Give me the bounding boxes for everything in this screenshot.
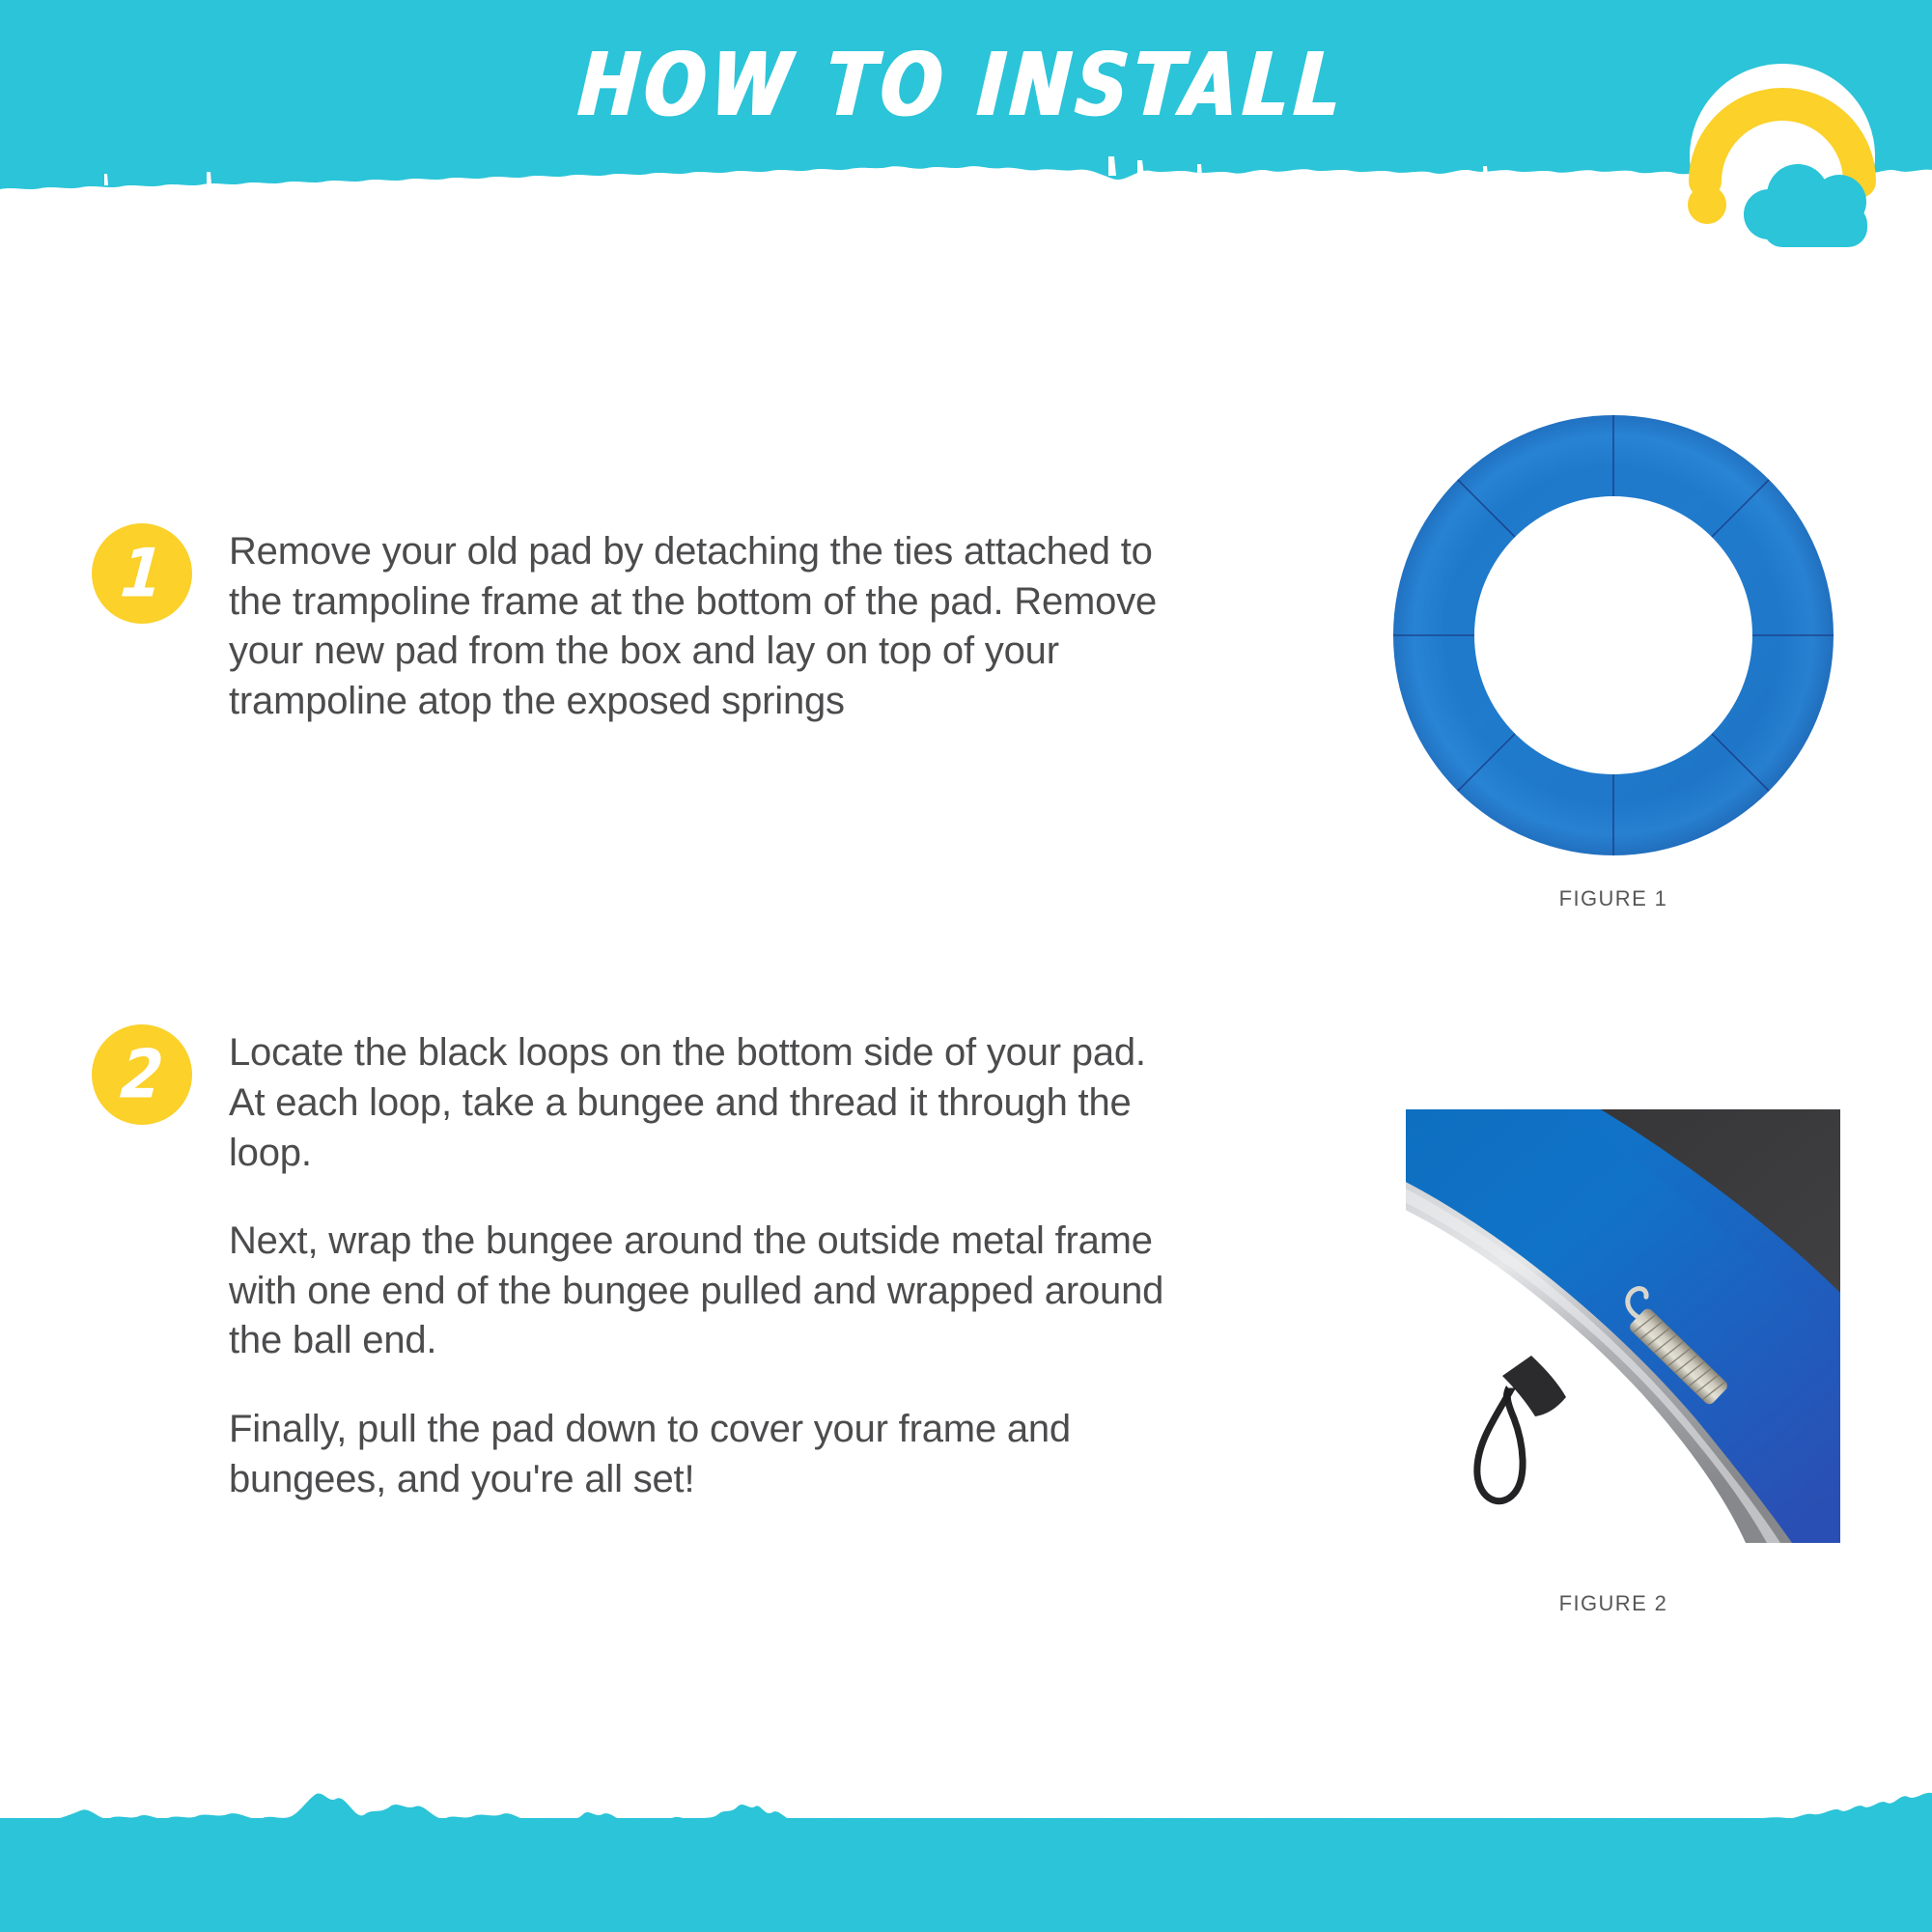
rainbow-cloud-logo [1663,60,1902,253]
step-item-2: 2 Locate the black loops on the bottom s… [92,1022,1173,1504]
step-number-1: 1 [87,518,197,630]
footer-fill [0,1818,1932,1932]
page-title: HOW TO INSTALL [0,35,1932,136]
step-number-2: 2 [87,1019,197,1131]
figure-1-caption: FIGURE 1 [1382,886,1845,911]
header-torn-edge [0,145,1932,222]
steps-list: 1 Remove your old pad by detaching the t… [92,521,1173,1504]
logo-dot-icon [1688,185,1726,224]
step-body-2: Locate the black loops on the bottom sid… [229,1022,1173,1504]
footer-torn-edge [0,1785,1932,1826]
step-paragraph: Next, wrap the bungee around the outside… [229,1217,1173,1366]
figure-2-caption: FIGURE 2 [1382,1591,1845,1616]
step-paragraph: Finally, pull the pad down to cover your… [229,1405,1173,1504]
figure-1-illustration-trampoline-pad-ring [1382,404,1845,867]
figure-2-illustration [1406,1109,1840,1543]
step-paragraph: Locate the black loops on the bottom sid… [229,1028,1173,1178]
step-number-badge-2: 2 [92,1024,192,1125]
header-band: HOW TO INSTALL [0,0,1932,189]
footer-band [0,1792,1932,1932]
step-body-1: Remove your old pad by detaching the tie… [229,521,1173,726]
step-paragraph: Remove your old pad by detaching the tie… [229,527,1173,726]
step-item-1: 1 Remove your old pad by detaching the t… [92,521,1173,726]
step-number-badge-1: 1 [92,523,192,624]
figure-2-photo-trampoline-detail [1406,1109,1840,1543]
